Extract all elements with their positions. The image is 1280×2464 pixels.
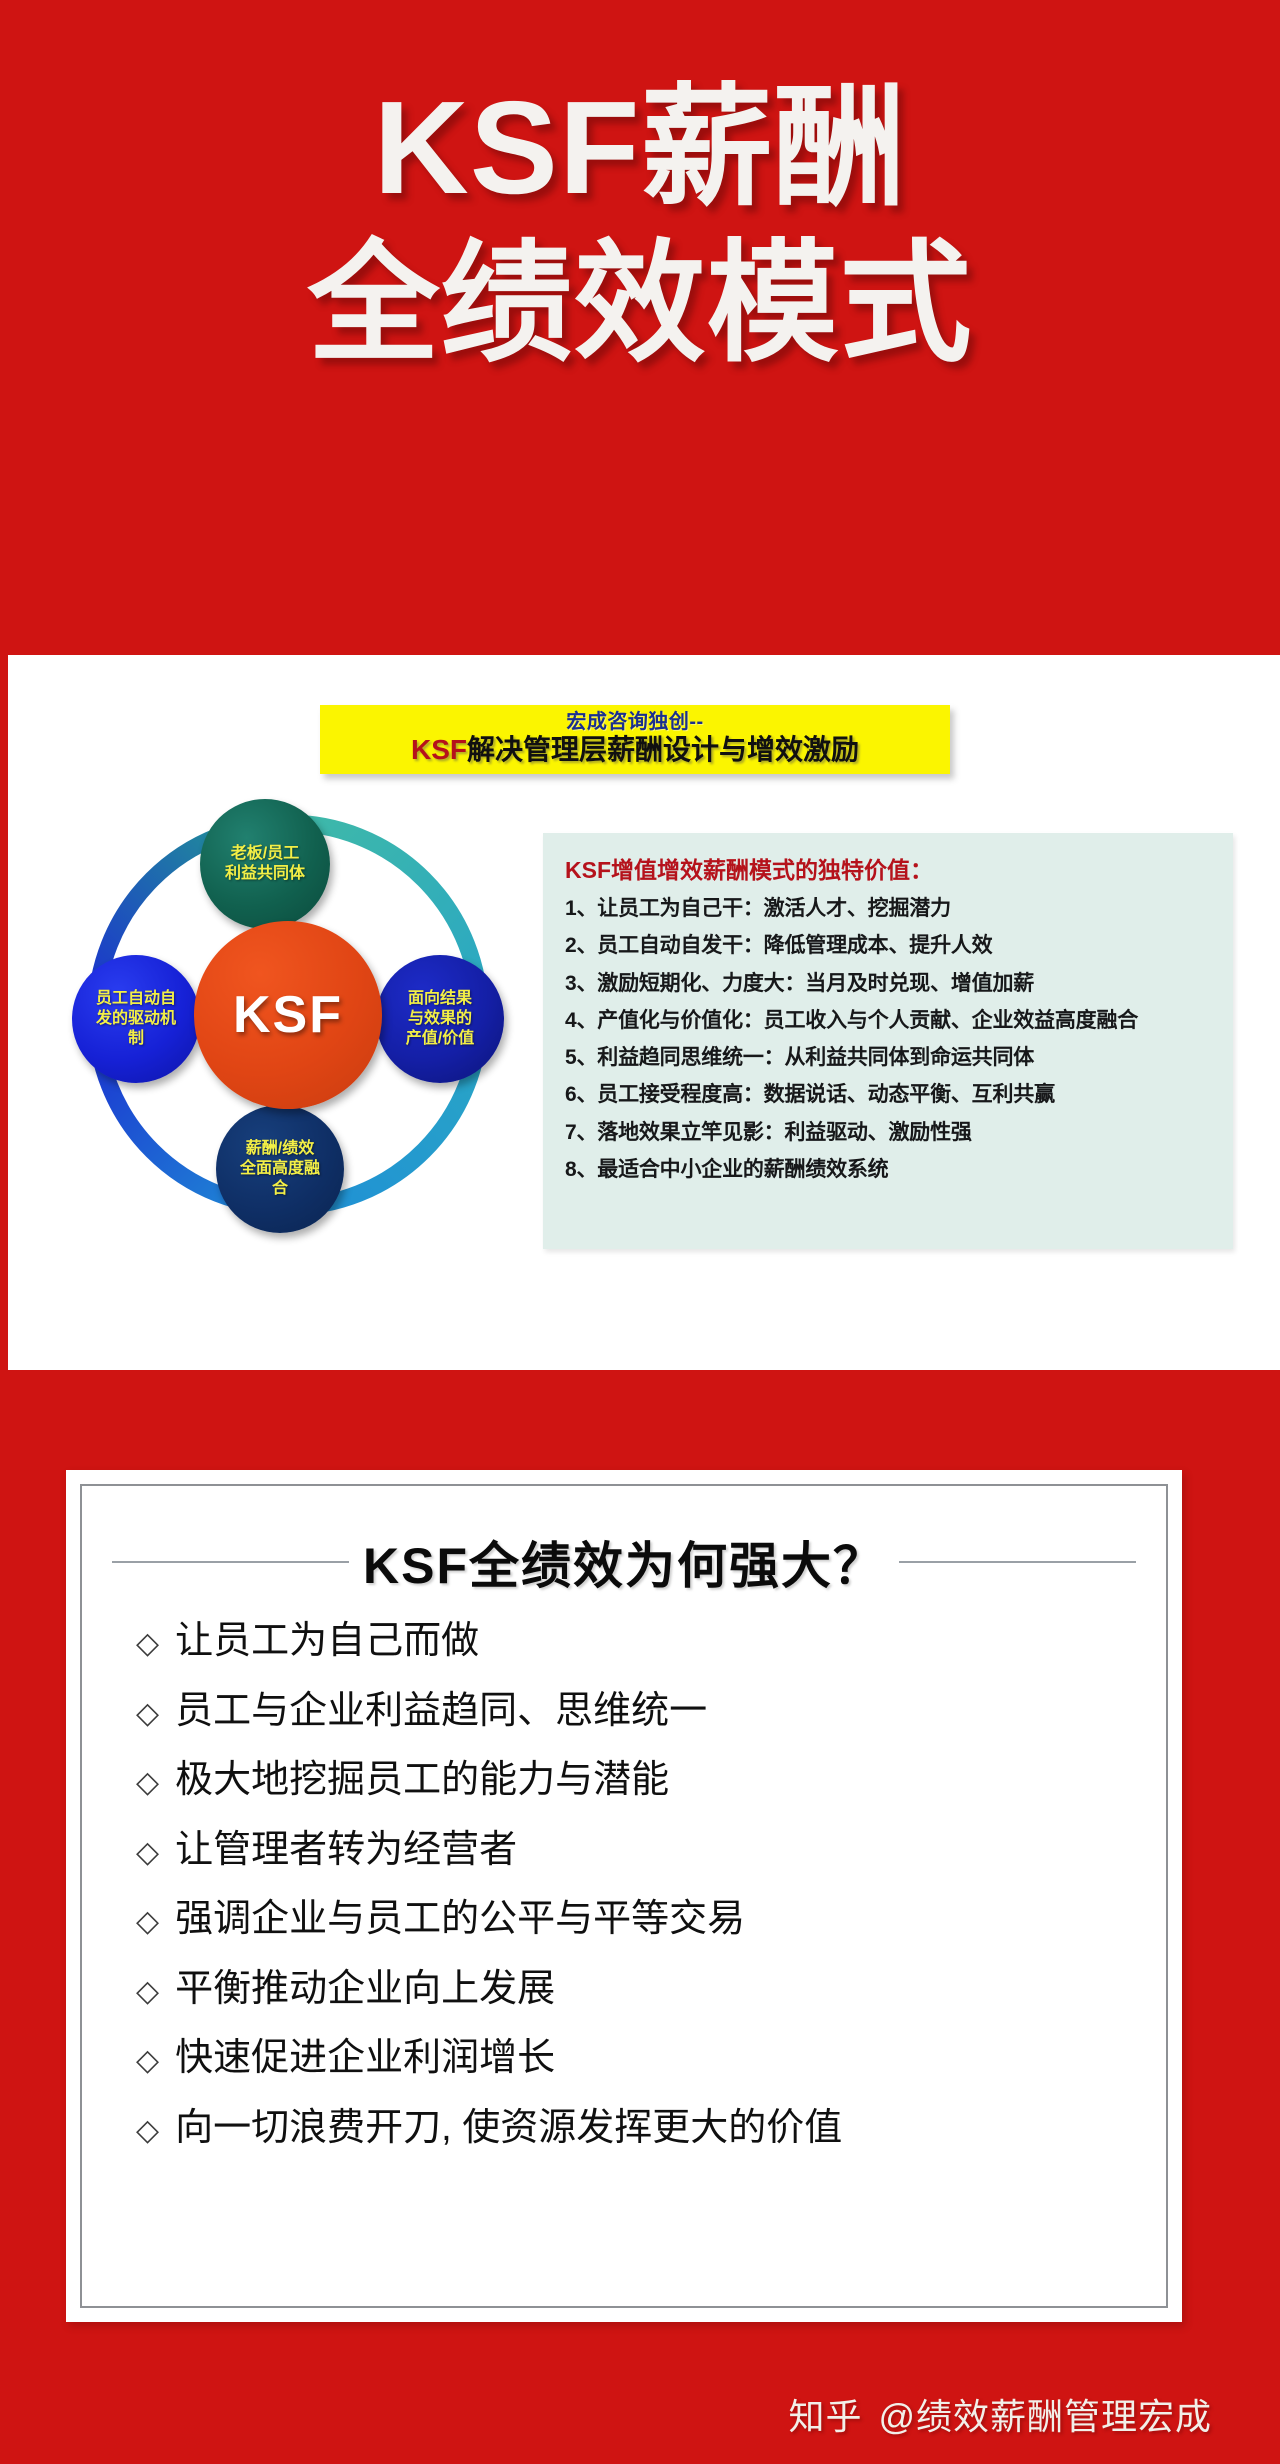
value-item: 3、激励短期化、力度大：当月及时兑现、增值加薪 xyxy=(565,970,1211,997)
diamond-icon: ◇ xyxy=(136,1699,159,1729)
value-item: 6、员工接受程度高：数据说话、动态平衡、互利共赢 xyxy=(565,1081,1211,1108)
cycle-node-right-line-2: 与效果的 xyxy=(406,1009,474,1029)
cycle-node-top-line-1: 老板/员工 xyxy=(225,844,305,864)
hero-banner: KSF薪酬 全绩效模式 xyxy=(0,0,1280,655)
diamond-icon: ◇ xyxy=(136,2046,159,2076)
cycle-node-center[interactable]: KSF xyxy=(194,921,382,1109)
benefits-title-row: KSF全绩效为何强大？ xyxy=(112,1526,1136,1598)
poster-root: KSF薪酬 全绩效模式 宏成咨询独创-- KSF解决管理层薪酬设计与增效激励 xyxy=(0,0,1280,2464)
value-item: 4、产值化与价值化：员工收入与个人贡献、企业效益高度融合 xyxy=(565,1007,1211,1034)
cycle-node-bottom[interactable]: 薪酬/绩效 全面高度融 合 xyxy=(216,1105,344,1233)
hero-title-block: KSF薪酬 全绩效模式 xyxy=(0,78,1280,374)
diamond-icon: ◇ xyxy=(136,1768,159,1798)
cycle-node-center-label: KSF xyxy=(233,983,343,1048)
ksf-cycle-diagram: 老板/员工 利益共同体 面向结果 与效果的 产值/价值 薪酬/绩效 全面高度融 xyxy=(68,795,508,1235)
list-item: ◇ 让管理者转为经营者 xyxy=(112,1829,1136,1872)
cycle-node-bottom-line-3: 合 xyxy=(240,1179,320,1199)
diamond-icon: ◇ xyxy=(136,1838,159,1868)
list-item-label: 快速促进企业利润增长 xyxy=(175,2037,555,2080)
value-item: 5、利益趋同思维统一：从利益共同体到命运共同体 xyxy=(565,1044,1211,1071)
cycle-node-left-line-1: 员工自动自 xyxy=(96,989,176,1009)
cycle-node-top-line-2: 利益共同体 xyxy=(225,864,305,884)
value-item: 2、员工自动自发干：降低管理成本、提升人效 xyxy=(565,932,1211,959)
value-proposition-title: KSF增值增效薪酬模式的独特价值： xyxy=(565,851,1211,885)
list-item-label: 平衡推动企业向上发展 xyxy=(175,1968,555,2011)
list-item-label: 强调企业与员工的公平与平等交易 xyxy=(175,1898,745,1941)
list-item-label: 让管理者转为经营者 xyxy=(175,1829,517,1872)
diagram-banner-title-rest: 解决管理层薪酬设计与增效激励 xyxy=(467,734,859,765)
cycle-node-top-label: 老板/员工 利益共同体 xyxy=(225,844,305,884)
cycle-node-bottom-line-1: 薪酬/绩效 xyxy=(240,1139,320,1159)
cycle-node-right-line-1: 面向结果 xyxy=(406,989,474,1009)
list-item-label: 员工与企业利益趋同、思维统一 xyxy=(175,1690,707,1733)
value-item: 7、落地效果立竿见影：利益驱动、激励性强 xyxy=(565,1119,1211,1146)
list-item: ◇ 平衡推动企业向上发展 xyxy=(112,1968,1136,2011)
diagram-banner-title-prefix: KSF xyxy=(411,734,467,765)
list-item-label: 极大地挖掘员工的能力与潜能 xyxy=(175,1759,669,1802)
list-item: ◇ 极大地挖掘员工的能力与潜能 xyxy=(112,1759,1136,1802)
cycle-node-bottom-label: 薪酬/绩效 全面高度融 合 xyxy=(240,1139,320,1199)
cycle-node-left-line-2: 发的驱动机 xyxy=(96,1009,176,1029)
diagram-banner-subtitle: 宏成咨询独创-- xyxy=(330,711,940,733)
hero-title-line-2: 全绩效模式 xyxy=(0,234,1280,374)
watermark: 知乎@绩效薪酬管理宏成 xyxy=(788,2388,1212,2440)
list-item: ◇ 员工与企业利益趋同、思维统一 xyxy=(112,1690,1136,1733)
diamond-icon: ◇ xyxy=(136,1629,159,1659)
title-rule-left xyxy=(112,1561,349,1563)
cycle-node-right-label: 面向结果 与效果的 产值/价值 xyxy=(406,989,474,1049)
benefits-list: ◇ 让员工为自己而做 ◇ 员工与企业利益趋同、思维统一 ◇ 极大地挖掘员工的能力… xyxy=(112,1620,1136,2149)
list-item: ◇ 让员工为自己而做 xyxy=(112,1620,1136,1663)
list-item-label: 让员工为自己而做 xyxy=(175,1620,479,1663)
diagram-panel: 宏成咨询独创-- KSF解决管理层薪酬设计与增效激励 xyxy=(8,655,1280,1370)
benefits-card-title: KSF全绩效为何强大？ xyxy=(363,1526,885,1598)
footer-bar: 知乎@绩效薪酬管理宏成 xyxy=(0,2366,1280,2464)
diamond-icon: ◇ xyxy=(136,1977,159,2007)
list-item: ◇ 强调企业与员工的公平与平等交易 xyxy=(112,1898,1136,1941)
cycle-node-top[interactable]: 老板/员工 利益共同体 xyxy=(200,799,330,929)
value-item: 1、让员工为自己干：激活人才、挖掘潜力 xyxy=(565,895,1211,922)
watermark-brand: 知乎 xyxy=(788,2396,862,2437)
red-divider-band xyxy=(0,1370,1280,1470)
cycle-node-left-line-3: 制 xyxy=(96,1029,176,1049)
title-rule-right xyxy=(899,1561,1136,1563)
benefits-card-inner: KSF全绩效为何强大？ ◇ 让员工为自己而做 ◇ 员工与企业利益趋同、思维统一 … xyxy=(80,1484,1168,2308)
diagram-stage: 宏成咨询独创-- KSF解决管理层薪酬设计与增效激励 xyxy=(8,655,1280,1370)
diagram-banner: 宏成咨询独创-- KSF解决管理层薪酬设计与增效激励 xyxy=(320,705,950,774)
cycle-node-bottom-line-2: 全面高度融 xyxy=(240,1159,320,1179)
list-item-label: 向一切浪费开刀, 使资源发挥更大的价值 xyxy=(175,2107,842,2150)
cycle-node-left[interactable]: 员工自动自 发的驱动机 制 xyxy=(72,955,200,1083)
diagram-banner-title: KSF解决管理层薪酬设计与增效激励 xyxy=(330,734,940,766)
cycle-node-right[interactable]: 面向结果 与效果的 产值/价值 xyxy=(376,955,504,1083)
hero-title-line-1: KSF薪酬 xyxy=(0,78,1280,218)
value-proposition-box: KSF增值增效薪酬模式的独特价值： 1、让员工为自己干：激活人才、挖掘潜力 2、… xyxy=(543,833,1233,1249)
diamond-icon: ◇ xyxy=(136,1907,159,1937)
watermark-handle: @绩效薪酬管理宏成 xyxy=(878,2396,1212,2437)
list-item: ◇ 快速促进企业利润增长 xyxy=(112,2037,1136,2080)
cycle-node-right-line-3: 产值/价值 xyxy=(406,1029,474,1049)
benefits-card: KSF全绩效为何强大？ ◇ 让员工为自己而做 ◇ 员工与企业利益趋同、思维统一 … xyxy=(66,1470,1182,2322)
cycle-node-left-label: 员工自动自 发的驱动机 制 xyxy=(96,989,176,1049)
value-item: 8、最适合中小企业的薪酬绩效系统 xyxy=(565,1156,1211,1183)
list-item: ◇ 向一切浪费开刀, 使资源发挥更大的价值 xyxy=(112,2107,1136,2150)
diamond-icon: ◇ xyxy=(136,2116,159,2146)
